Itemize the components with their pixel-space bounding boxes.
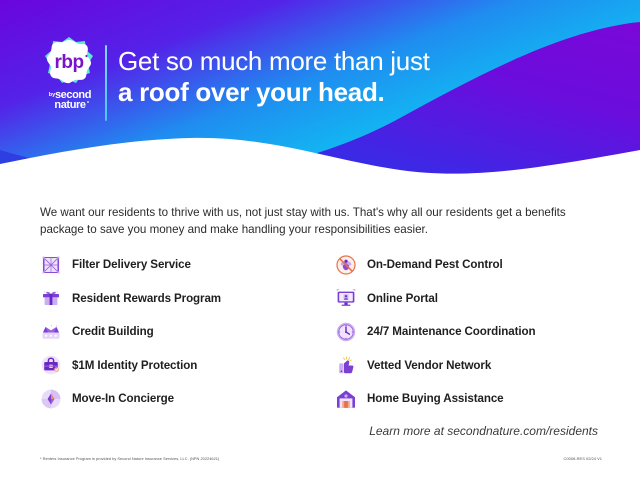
benefit-label: On-Demand Pest Control xyxy=(367,258,503,271)
benefits-column-right: On-Demand Pest Control Online Por xyxy=(335,248,600,416)
benefit-move-in-concierge: Move-In Concierge xyxy=(40,382,335,416)
gift-icon xyxy=(40,287,62,309)
benefit-credit-building: Credit Building xyxy=(40,315,335,349)
headline-line-1: Get so much more than just xyxy=(118,46,588,77)
logo-nature-text: nature xyxy=(54,99,86,111)
filter-icon xyxy=(40,254,62,276)
benefit-label: Online Portal xyxy=(367,292,438,305)
benefit-online-portal: Online Portal xyxy=(335,282,600,316)
no-pest-icon xyxy=(335,254,357,276)
house-icon xyxy=(335,388,357,410)
hero-divider xyxy=(105,45,107,121)
thumbs-up-icon xyxy=(335,354,357,376)
benefit-vetted-vendor-network: Vetted Vendor Network xyxy=(335,349,600,383)
benefit-label: Vetted Vendor Network xyxy=(367,359,491,372)
monitor-icon xyxy=(335,287,357,309)
benefit-label: Credit Building xyxy=(72,325,154,338)
benefit-maintenance-coordination: 24/7 Maintenance Coordination xyxy=(335,315,600,349)
compass-icon xyxy=(40,388,62,410)
benefit-label: Filter Delivery Service xyxy=(72,258,191,271)
flyer-page: rbp by second nature Get so much more th… xyxy=(0,0,640,480)
benefits-column-left: Filter Delivery Service Resident Rewards… xyxy=(40,248,335,416)
benefit-home-buying-assistance: Home Buying Assistance xyxy=(335,382,600,416)
intro-paragraph: We want our residents to thrive with us,… xyxy=(40,204,598,238)
benefit-label: 24/7 Maintenance Coordination xyxy=(367,325,535,338)
clock-icon xyxy=(335,321,357,343)
learn-more-link[interactable]: Learn more at secondnature.com/residents xyxy=(369,424,598,438)
rbp-logo-mark: rbp xyxy=(40,36,98,86)
benefits-list: Filter Delivery Service Resident Rewards… xyxy=(40,248,600,416)
rbp-logo: rbp by second nature xyxy=(38,36,100,118)
logo-rbp-text: rbp xyxy=(54,52,83,73)
hero-headline: Get so much more than just a roof over y… xyxy=(118,46,588,108)
legal-footnote: * Renters Insurance Program is provided … xyxy=(40,456,219,461)
briefcase-lock-icon xyxy=(40,354,62,376)
benefit-resident-rewards-program: Resident Rewards Program xyxy=(40,282,335,316)
headline-line-2: a roof over your head. xyxy=(118,77,588,108)
hero-banner: rbp by second nature Get so much more th… xyxy=(0,0,640,182)
benefit-filter-delivery-service: Filter Delivery Service xyxy=(40,248,335,282)
benefit-label: Home Buying Assistance xyxy=(367,392,504,405)
benefit-label: Move-In Concierge xyxy=(72,392,174,405)
benefit-label: Resident Rewards Program xyxy=(72,292,221,305)
credit-crown-icon xyxy=(40,321,62,343)
benefit-identity-protection: $1M Identity Protection xyxy=(40,349,335,383)
benefit-on-demand-pest-control: On-Demand Pest Control xyxy=(335,248,600,282)
logo-secondnature-lockup: by second nature xyxy=(39,87,99,115)
benefit-label: $1M Identity Protection xyxy=(72,359,197,372)
document-code: C0008-RES 02/24 V1 xyxy=(564,456,602,461)
